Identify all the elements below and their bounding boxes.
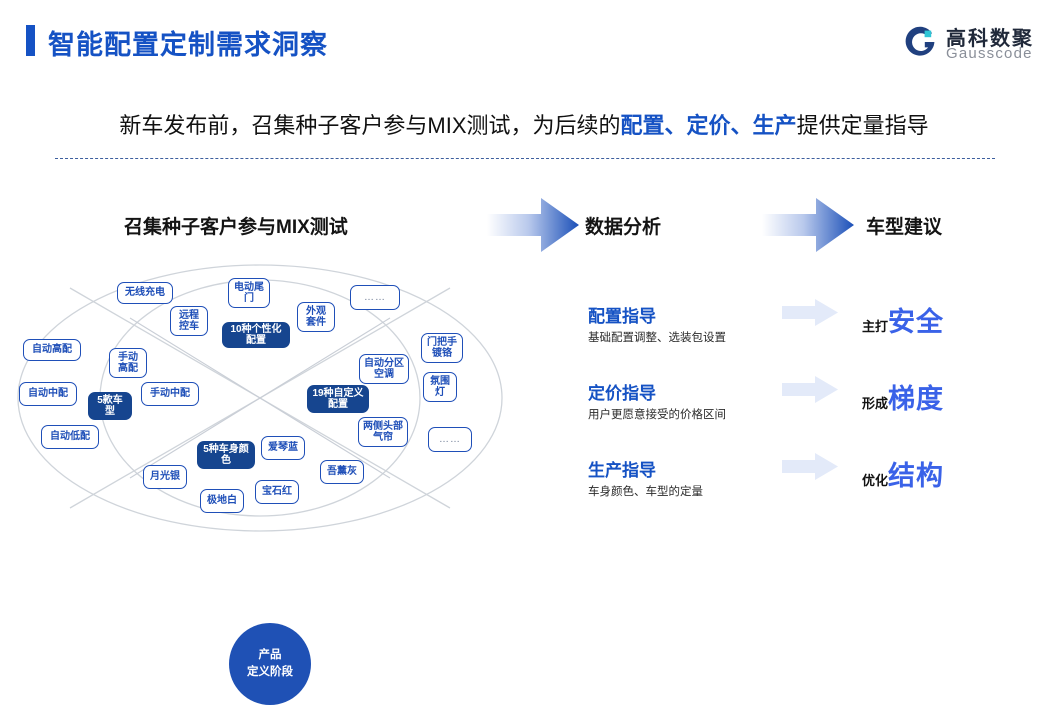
mindmap-node[interactable]: 吾薰灰	[320, 460, 364, 484]
column-heading-right: 车型建议	[866, 212, 942, 239]
result-keyword: 安全	[888, 307, 944, 337]
mindmap-hub-node[interactable]: 19种自定义配置	[307, 385, 369, 413]
mindmap-node[interactable]: 爱琴蓝	[261, 436, 305, 460]
column-heading-left: 召集种子客户参与MIX测试	[124, 212, 348, 239]
mindmap-node[interactable]: 门把手镀铬	[421, 333, 463, 363]
mindmap-node[interactable]: 电动尾门	[228, 278, 270, 308]
result-keyword: 结构	[888, 461, 944, 491]
mindmap-hub-node[interactable]: 5种车身颜色	[197, 441, 255, 469]
subtitle-highlight: 配置、定价、生产	[621, 113, 797, 138]
gausscode-logo-icon	[902, 24, 938, 60]
result-keyword: 梯度	[888, 384, 944, 414]
mindmap-node[interactable]: 极地白	[200, 489, 244, 513]
result-arrow-icon-3	[782, 453, 838, 480]
slide-canvas: 智能配置定制需求洞察 高科数聚 Gausscode 新车发布前，召集种子客户参与…	[0, 0, 1048, 589]
title-accent-bar	[26, 25, 35, 56]
center-node-line-2: 定义阶段	[247, 664, 293, 681]
mindmap-node-ellipsis[interactable]: ……	[428, 427, 472, 452]
flow-arrow-icon-2	[762, 196, 854, 254]
mindmap-hub-node[interactable]: 5款车型	[88, 392, 132, 420]
column-heading-middle: 数据分析	[585, 212, 661, 239]
mindmap-node[interactable]: 无线充电	[117, 282, 173, 304]
logo-english-name: Gausscode	[946, 45, 1033, 62]
mindmap-node[interactable]: 自动低配	[41, 425, 99, 449]
mindmap-center-node[interactable]: 产品 定义阶段	[229, 623, 311, 705]
mindmap-node[interactable]: 远程控车	[170, 306, 208, 336]
mindmap-node[interactable]: 两侧头部气帘	[358, 417, 408, 447]
mindmap-node[interactable]: 氛围灯	[423, 372, 457, 402]
result-arrow-icon-1	[782, 299, 838, 326]
section-divider	[55, 158, 995, 159]
mindmap-diagram: 10种个性化配置 5款车型 19种自定义配置 5种车身颜色 无线充电 电动尾门 …	[10, 258, 510, 538]
analysis-row-title: 生产指导	[588, 456, 656, 481]
mindmap-node[interactable]: 自动分区空调	[359, 354, 409, 384]
mindmap-node[interactable]: 自动高配	[23, 339, 81, 361]
subtitle-line: 新车发布前，召集种子客户参与MIX测试，为后续的配置、定价、生产提供定量指导	[0, 108, 1048, 140]
mindmap-node[interactable]: 自动中配	[19, 382, 77, 406]
analysis-row-subtitle: 基础配置调整、选装包设置	[588, 329, 726, 345]
page-title: 智能配置定制需求洞察	[48, 23, 328, 62]
mindmap-node[interactable]: 手动高配	[109, 348, 147, 378]
recommendation-result: 形成梯度	[862, 377, 944, 416]
subtitle-part-1: 新车发布前，召集种子客户参与MIX测试，为后续的	[119, 113, 620, 138]
result-prefix: 主打	[862, 319, 888, 334]
result-prefix: 形成	[862, 396, 888, 411]
mindmap-node[interactable]: 外观套件	[297, 302, 335, 332]
analysis-row-title: 配置指导	[588, 302, 656, 327]
brand-logo: 高科数聚 Gausscode	[902, 20, 1030, 66]
recommendation-result: 优化结构	[862, 454, 944, 493]
result-prefix: 优化	[862, 473, 888, 488]
mindmap-node[interactable]: 宝石红	[255, 480, 299, 504]
analysis-row-subtitle: 用户更愿意接受的价格区间	[588, 406, 726, 422]
mindmap-node[interactable]: 月光银	[143, 465, 187, 489]
mindmap-node-ellipsis[interactable]: ……	[350, 285, 400, 310]
flow-arrow-icon-1	[487, 196, 579, 254]
analysis-row-subtitle: 车身颜色、车型的定量	[588, 483, 703, 499]
analysis-row-title: 定价指导	[588, 379, 656, 404]
result-arrow-icon-2	[782, 376, 838, 403]
subtitle-part-2: 提供定量指导	[797, 113, 929, 138]
mindmap-node[interactable]: 手动中配	[141, 382, 199, 406]
recommendation-result: 主打安全	[862, 300, 944, 339]
center-node-line-1: 产品	[259, 647, 282, 664]
mindmap-hub-node[interactable]: 10种个性化配置	[222, 322, 290, 348]
slide-header: 智能配置定制需求洞察 高科数聚 Gausscode	[0, 0, 1048, 78]
